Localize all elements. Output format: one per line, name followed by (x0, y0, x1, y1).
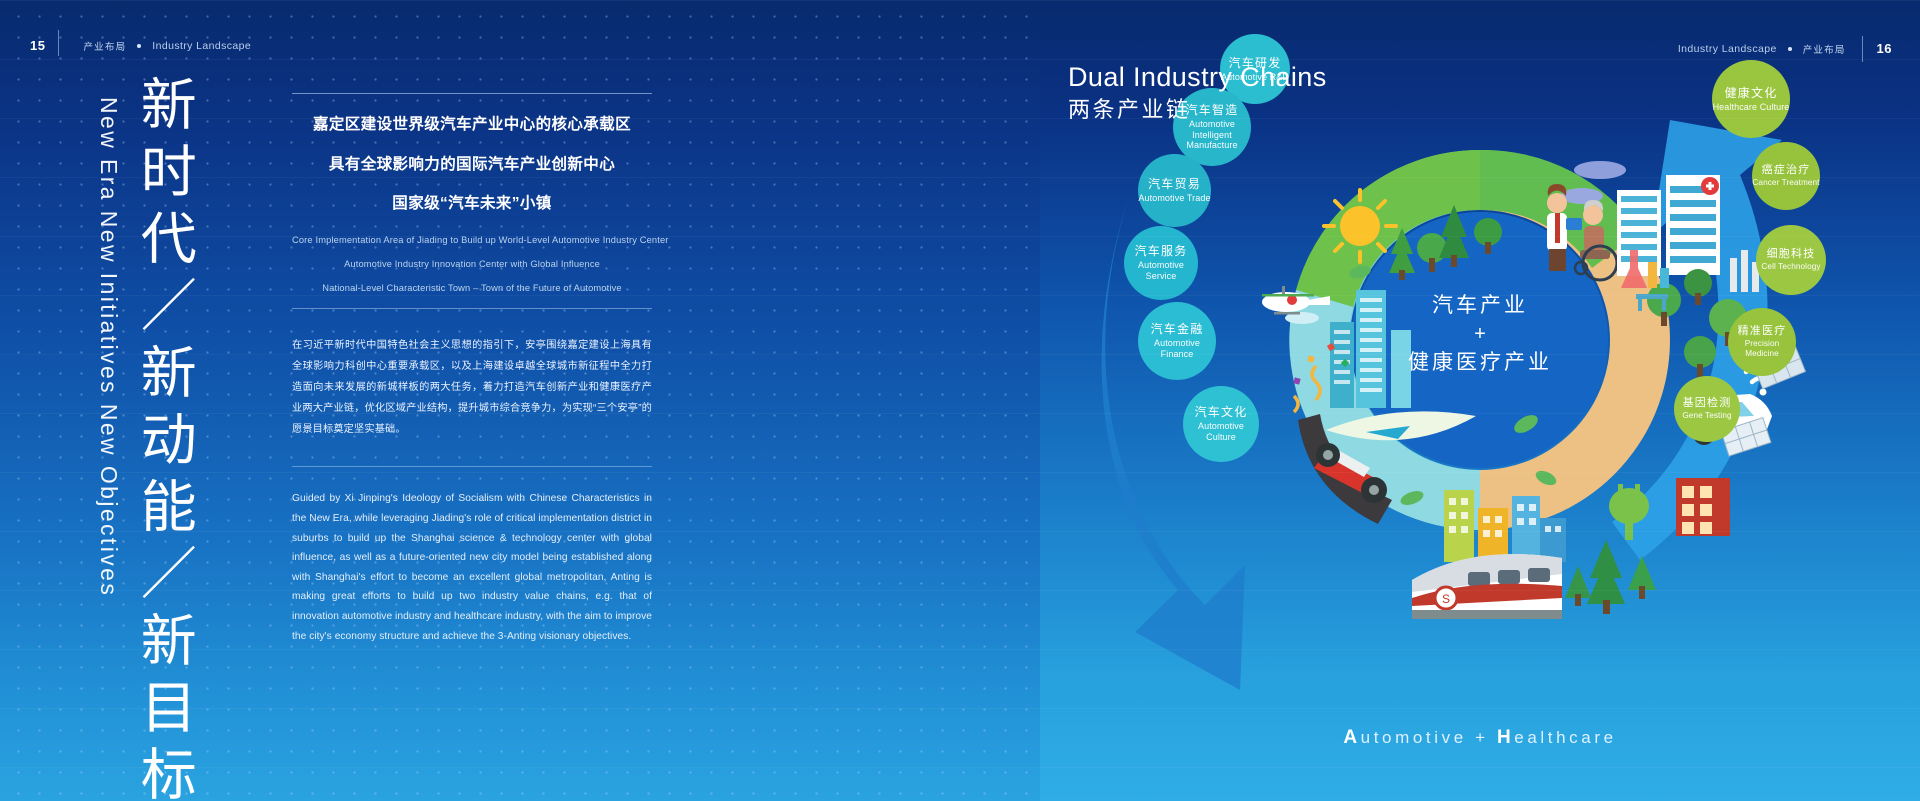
divider-mid (292, 308, 652, 309)
residential-building (1676, 478, 1730, 536)
svg-text:S: S (1442, 592, 1450, 606)
header-bar: 15 产业布局 Industry Landscape Industry Land… (0, 0, 1920, 60)
bullet-dot-icon (137, 44, 141, 48)
bubble-label-en: Healthcare Culture (1713, 102, 1790, 113)
footer-caption-healthcare: ealthcare (1514, 728, 1616, 747)
bubble-label-cn: 细胞科技 (1767, 248, 1816, 262)
hero-sub-3: National-Level Characteristic Town – Tow… (292, 284, 652, 293)
tree-icon (1684, 336, 1716, 377)
header-right-cn: 产业布局 (1803, 42, 1846, 56)
bubble-label-en: Cell Technology (1761, 262, 1820, 272)
footer-caption-h: H (1497, 727, 1514, 748)
header-right-en: Industry Landscape (1678, 43, 1777, 55)
vertical-title-cn: 新时代／新动能／新目标 (135, 75, 193, 801)
bubble-label-en: Automotive Trade (1138, 193, 1210, 204)
footer-caption-plus: + (1475, 728, 1489, 747)
center-label-top: 汽车产业 (1352, 290, 1608, 322)
header-right: Industry Landscape 产业布局 16 (1678, 36, 1892, 62)
bullet-dot-icon (1788, 47, 1792, 51)
bubble-label-cn: 癌症治疗 (1762, 164, 1811, 178)
header-divider (58, 30, 59, 56)
header-left-cn: 产业布局 (83, 39, 126, 53)
divider-lower (292, 466, 652, 467)
hero-subhead: Core Implementation Area of Jiading to B… (292, 236, 652, 294)
left-text-column: 嘉定区建设世界级汽车产业中心的核心承载区 具有全球影响力的国际汽车产业创新中心 … (292, 0, 652, 646)
bubble-label-cn: 精准医疗 (1738, 325, 1787, 339)
header-left-en: Industry Landscape (152, 40, 251, 52)
tree-icon (1565, 566, 1591, 606)
bubble-label-en: Gene Testing (1682, 411, 1731, 421)
section-title: Dual Industry Chains 两条产业链 (1068, 62, 1327, 124)
presentation-spread: Dual Industry Chains 两条产业链 (0, 0, 1920, 801)
bubble-automotive-culture[interactable]: 汽车文化 Automotive Culture (1183, 386, 1259, 462)
bubble-label-cn: 基因检测 (1683, 397, 1732, 411)
bubble-cell-technology[interactable]: 细胞科技 Cell Technology (1756, 225, 1826, 295)
hero-sub-1: Core Implementation Area of Jiading to B… (292, 236, 652, 245)
page-number-right: 16 (1863, 42, 1892, 56)
vertical-title-en: New Era New Initiatives New Objectives (95, 97, 122, 597)
footer-caption-automotive: utomotive (1361, 728, 1467, 747)
bubble-label-en: Automotive Culture (1183, 421, 1259, 443)
hero-line-1: 嘉定区建设世界级汽车产业中心的核心承载区 (292, 117, 652, 133)
bubble-label-en: Cancer Treatment (1752, 178, 1819, 188)
footer-caption-a: A (1343, 727, 1360, 748)
bubble-precision-medicine[interactable]: 精准医疗 Precision Medicine (1728, 308, 1796, 376)
cloud-icon (1574, 161, 1626, 179)
bubble-cancer-treatment[interactable]: 癌症治疗 Cancer Treatment (1752, 142, 1820, 210)
tree-icon (1587, 540, 1625, 614)
sun-icon (1324, 190, 1396, 262)
bubble-automotive-trade[interactable]: 汽车贸易 Automotive Trade (1138, 154, 1211, 227)
bubble-healthcare-culture[interactable]: 健康文化 Healthcare Culture (1712, 60, 1790, 138)
section-title-en: Dual Industry Chains (1068, 62, 1327, 94)
tree-icon (1684, 269, 1712, 305)
divider-top (292, 93, 652, 94)
header-left: 15 产业布局 Industry Landscape (30, 36, 251, 56)
hero-sub-2: Automotive Industry Innovation Center wi… (292, 260, 652, 269)
tree-icon (1628, 556, 1656, 599)
hero-line-3: 国家级“汽车未来”小镇 (292, 196, 652, 212)
hero-headline: 嘉定区建设世界级汽车产业中心的核心承载区 具有全球影响力的国际汽车产业创新中心 … (292, 117, 652, 212)
bubble-gene-testing[interactable]: 基因检测 Gene Testing (1674, 376, 1740, 442)
body-paragraph-en: Guided by Xi Jinping's Ideology of Socia… (292, 489, 652, 646)
bubble-label-cn: 健康文化 (1725, 86, 1778, 101)
right-panel: Dual Industry Chains 两条产业链 (1040, 0, 1920, 801)
bubble-label-en: Automotive Finance (1138, 338, 1216, 360)
bubble-label-en: Automotive Service (1124, 260, 1198, 282)
hospital-building (1666, 175, 1720, 275)
center-label-plus: + (1352, 322, 1608, 347)
bubble-label-cn: 汽车贸易 (1148, 177, 1201, 192)
center-label: 汽车产业 + 健康医疗产业 (1352, 290, 1608, 378)
bubble-label-cn: 汽车文化 (1195, 405, 1248, 420)
hero-line-2: 具有全球影响力的国际汽车产业创新中心 (292, 157, 652, 173)
bubble-automotive-finance[interactable]: 汽车金融 Automotive Finance (1138, 302, 1216, 380)
maglev-train-icon: S (1412, 554, 1562, 619)
bubble-label-en: Precision Medicine (1728, 339, 1796, 359)
bubble-label-cn: 汽车服务 (1135, 244, 1188, 259)
body-paragraph-cn: 在习近平新时代中国特色社会主义思想的指引下，安亭围绕嘉定建设上海具有全球影响力科… (292, 335, 652, 440)
bubble-automotive-service[interactable]: 汽车服务 Automotive Service (1124, 226, 1198, 300)
footer-caption: Automotive + Healthcare (1040, 727, 1920, 749)
center-label-bottom: 健康医疗产业 (1352, 347, 1608, 379)
page-number-left: 15 (30, 39, 58, 53)
bubble-label-cn: 汽车金融 (1151, 322, 1204, 337)
section-title-cn: 两条产业链 (1068, 96, 1327, 125)
